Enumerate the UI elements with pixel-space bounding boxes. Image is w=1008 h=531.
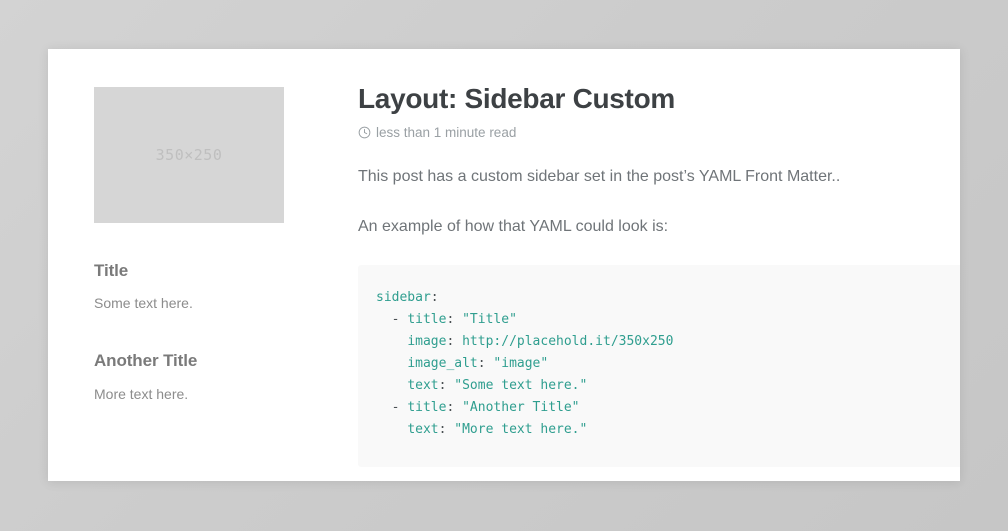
yaml-code-block: sidebar: - title: "Title" image: http://… xyxy=(358,265,960,467)
code-line: sidebar: xyxy=(376,287,960,309)
code-line: text: "Some text here." xyxy=(376,375,960,397)
page-title: Layout: Sidebar Custom xyxy=(358,83,960,115)
code-line: image_alt: "image" xyxy=(376,353,960,375)
sidebar-block: Another Title More text here. xyxy=(94,351,304,404)
read-time-label: less than 1 minute read xyxy=(376,125,516,140)
post-sidebar: 350×250 Title Some text here. Another Ti… xyxy=(94,87,344,405)
code-line: text: "More text here." xyxy=(376,419,960,441)
sidebar-block: Title Some text here. xyxy=(94,261,304,314)
page-root: 350×250 Title Some text here. Another Ti… xyxy=(0,0,1008,531)
post-paragraph: An example of how that YAML could look i… xyxy=(358,215,960,239)
post-paragraph: This post has a custom sidebar set in th… xyxy=(358,165,960,189)
post-main: Layout: Sidebar Custom less than 1 minut… xyxy=(358,83,960,467)
content-card: 350×250 Title Some text here. Another Ti… xyxy=(48,49,960,481)
sidebar-image: 350×250 xyxy=(94,87,284,223)
sidebar-block-text: Some text here. xyxy=(94,293,304,314)
sidebar-block-title: Title xyxy=(94,261,304,281)
code-line: - title: "Title" xyxy=(376,309,960,331)
sidebar-block-text: More text here. xyxy=(94,384,304,405)
code-line: image: http://placehold.it/350x250 xyxy=(376,331,960,353)
code-content: sidebar: - title: "Title" image: http://… xyxy=(376,287,960,441)
sidebar-block-title: Another Title xyxy=(94,351,304,371)
clock-icon xyxy=(358,126,371,139)
sidebar-image-placeholder-label: 350×250 xyxy=(156,146,223,164)
post-meta: less than 1 minute read xyxy=(358,125,960,140)
card-inner: 350×250 Title Some text here. Another Ti… xyxy=(48,49,960,481)
code-line: - title: "Another Title" xyxy=(376,397,960,419)
